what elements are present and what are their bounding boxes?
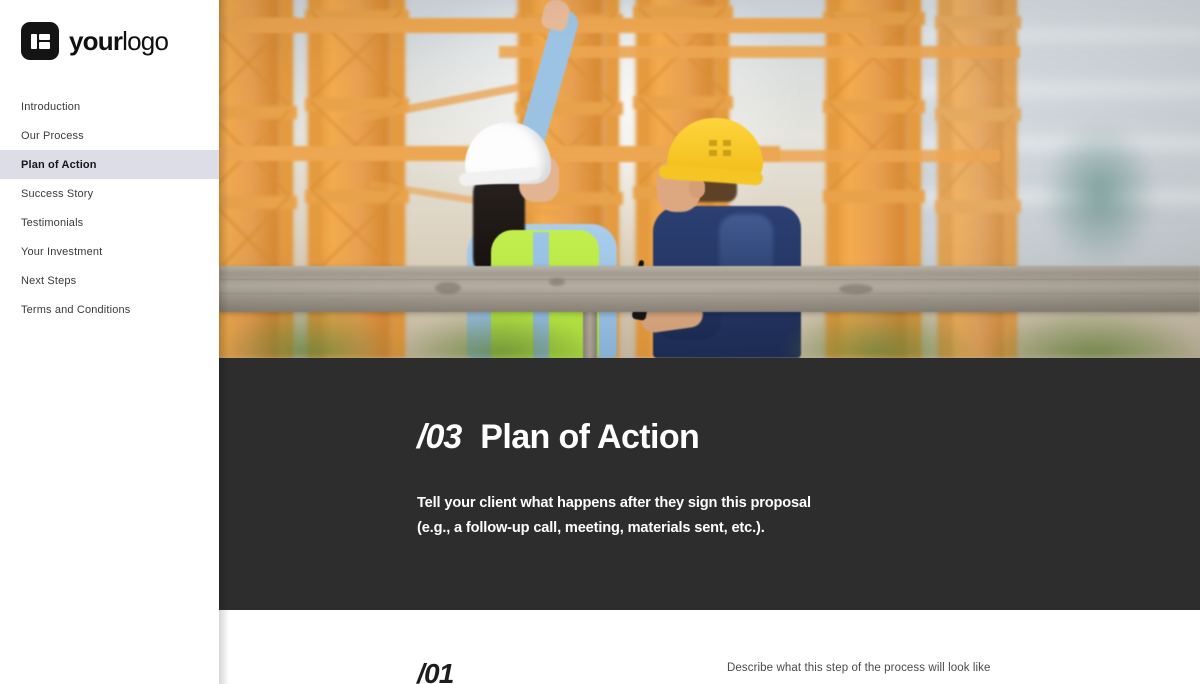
section-subtitle: Tell your client what happens after they…: [417, 491, 1200, 541]
sidebar-item-our-process[interactable]: Our Process: [0, 121, 219, 150]
sidebar-item-terms-and-conditions[interactable]: Terms and Conditions: [0, 295, 219, 324]
section-nav: Introduction Our Process Plan of Action …: [0, 92, 219, 324]
hero-photo: [219, 0, 1200, 358]
construction-site-photo: [219, 0, 1200, 358]
sidebar-item-label: Success Story: [21, 188, 93, 200]
sidebar-item-label: Our Process: [21, 130, 84, 142]
brand-wordmark: yourlogo: [69, 28, 168, 54]
sidebar-item-label: Plan of Action: [21, 159, 97, 171]
sidebar-item-plan-of-action[interactable]: Plan of Action: [0, 150, 219, 179]
section-title-band: /03 Plan of Action Tell your client what…: [219, 358, 1200, 610]
sidebar-item-success-story[interactable]: Success Story: [0, 179, 219, 208]
sidebar-item-introduction[interactable]: Introduction: [0, 92, 219, 121]
steps-section: /01 Describe what this step of the proce…: [219, 610, 1200, 684]
section-subtitle-line1: Tell your client what happens after they…: [417, 495, 811, 511]
sidebar-item-label: Terms and Conditions: [21, 304, 130, 316]
sidebar: yourlogo Introduction Our Process Plan o…: [0, 0, 219, 684]
photo-vignette: [219, 0, 1200, 358]
sidebar-item-next-steps[interactable]: Next Steps: [0, 266, 219, 295]
brand-word-light: logo: [122, 26, 168, 56]
step-description: Describe what this step of the process w…: [727, 660, 991, 677]
step-number: /01: [417, 660, 454, 684]
sidebar-item-testimonials[interactable]: Testimonials: [0, 208, 219, 237]
sidebar-item-label: Your Investment: [21, 246, 102, 258]
document-canvas: /03 Plan of Action Tell your client what…: [219, 0, 1200, 684]
page-title: /03 Plan of Action: [417, 420, 1200, 454]
sidebar-item-label: Testimonials: [21, 217, 83, 229]
brand-word-strong: your: [69, 26, 122, 56]
sidebar-item-label: Introduction: [21, 101, 80, 113]
section-number: /03: [417, 420, 461, 454]
brand-logo[interactable]: yourlogo: [0, 0, 219, 60]
proposal-document-view: yourlogo Introduction Our Process Plan o…: [0, 0, 1200, 684]
sidebar-item-label: Next Steps: [21, 275, 76, 287]
section-subtitle-line2: (e.g., a follow-up call, meeting, materi…: [417, 520, 765, 536]
sidebar-item-your-investment[interactable]: Your Investment: [0, 237, 219, 266]
layout-grid-icon: [21, 22, 59, 60]
section-title-text: Plan of Action: [480, 420, 699, 454]
